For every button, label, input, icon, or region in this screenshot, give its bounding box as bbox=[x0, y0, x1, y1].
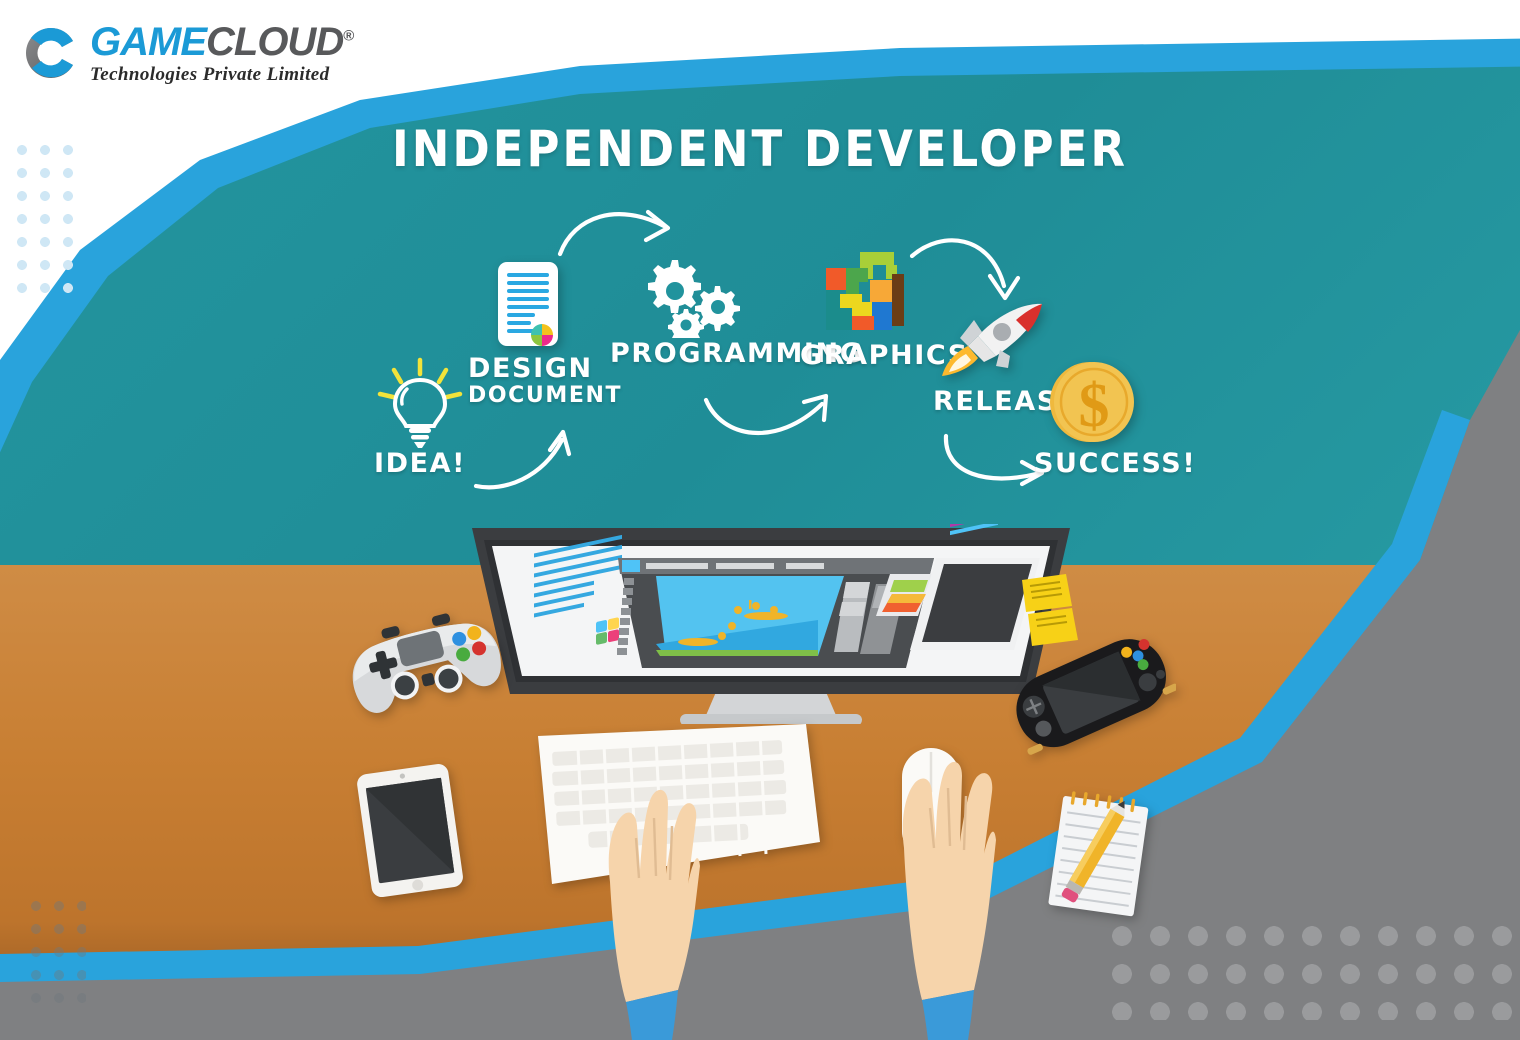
brand-logo-game: GAME bbox=[90, 20, 206, 64]
flow-label-design-line1: DESIGN bbox=[468, 353, 593, 384]
flow-step-release[interactable]: RELEASE bbox=[938, 300, 1048, 386]
flow-step-design-document[interactable]: DESIGN DOCUMENT bbox=[490, 258, 566, 352]
flow-label-design-line2: DOCUMENT bbox=[468, 383, 622, 408]
dot-pattern-bottom-left bbox=[28, 898, 86, 1010]
hand-icon bbox=[892, 752, 1002, 1040]
page-title-text: INDEPENDENT DEVELOPER bbox=[392, 120, 1128, 178]
flow-label-release: RELEASE bbox=[933, 386, 1053, 417]
rocket-icon bbox=[938, 300, 1048, 386]
hand-icon bbox=[592, 778, 702, 1040]
infographic-canvas: GAMECLOUD® Technologies Private Limited … bbox=[0, 0, 1520, 1040]
registered-trademark-icon: ® bbox=[343, 28, 353, 45]
tetris-blocks-icon bbox=[808, 250, 912, 342]
dot-pattern-bottom-right bbox=[1108, 922, 1520, 1020]
desktop-monitor-icon[interactable] bbox=[466, 524, 1076, 724]
lightbulb-icon bbox=[372, 356, 468, 448]
handheld-console-icon[interactable] bbox=[1008, 620, 1176, 775]
svg-text:$: $ bbox=[1079, 372, 1110, 440]
notepad-pencil-icon[interactable] bbox=[1040, 784, 1170, 925]
gamecloud-c-mark-icon bbox=[22, 24, 80, 82]
flow-step-graphics[interactable]: GRAPHICS bbox=[808, 250, 912, 342]
flow-step-programming[interactable]: PROGRAMMING bbox=[620, 250, 770, 338]
flow-label-graphics: GRAPHICS bbox=[800, 340, 920, 371]
flow-label-idea: IDEA! bbox=[372, 448, 468, 479]
flow-label-success: SUCCESS! bbox=[1034, 448, 1150, 479]
document-icon bbox=[490, 258, 566, 352]
dollar-coin-icon: $ bbox=[1046, 356, 1138, 448]
page-title: INDEPENDENT DEVELOPER bbox=[0, 120, 1520, 178]
flow-label-programming: PROGRAMMING bbox=[610, 338, 780, 369]
brand-tagline: Technologies Private Limited bbox=[90, 65, 353, 84]
flow-label-idea-text: IDEA! bbox=[374, 448, 466, 479]
brand-logo[interactable]: GAMECLOUD® Technologies Private Limited bbox=[22, 22, 353, 84]
flow-label-design-document: DESIGN DOCUMENT bbox=[468, 354, 590, 409]
flow-step-idea[interactable]: IDEA! bbox=[372, 356, 468, 448]
gears-icon bbox=[620, 250, 770, 338]
flow-label-success-text: SUCCESS! bbox=[1034, 448, 1196, 479]
flow-step-success[interactable]: $ SUCCESS! bbox=[1046, 356, 1138, 448]
gamepad-icon[interactable] bbox=[345, 608, 505, 731]
tablet-icon[interactable] bbox=[352, 762, 476, 903]
brand-logo-cloud: CLOUD bbox=[206, 20, 343, 64]
brand-logo-wordmark: GAMECLOUD® bbox=[90, 22, 353, 62]
